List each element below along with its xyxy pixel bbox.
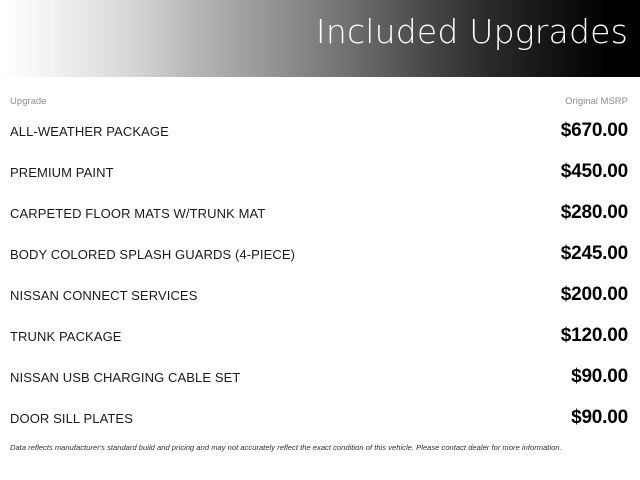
upgrade-price: $245.00 [561, 243, 628, 265]
page-title: Included Upgrades [316, 14, 628, 50]
table-row: NISSAN USB CHARGING CABLE SET $90.00 [0, 370, 640, 411]
header-banner: Included Upgrades [0, 0, 640, 77]
upgrade-name: NISSAN CONNECT SERVICES [10, 288, 197, 304]
upgrade-price: $120.00 [561, 325, 628, 347]
upgrade-price: $90.00 [571, 407, 628, 429]
table-row: PREMIUM PAINT $450.00 [0, 165, 640, 206]
upgrade-price: $90.00 [571, 366, 628, 388]
upgrade-name: NISSAN USB CHARGING CABLE SET [10, 370, 240, 386]
upgrade-price: $450.00 [561, 161, 628, 183]
column-header-original-msrp: Original MSRP [565, 96, 628, 107]
table-row: BODY COLORED SPLASH GUARDS (4-PIECE) $24… [0, 247, 640, 288]
upgrade-name: BODY COLORED SPLASH GUARDS (4-PIECE) [10, 247, 295, 263]
upgrade-price: $200.00 [561, 284, 628, 306]
upgrade-name: ALL-WEATHER PACKAGE [10, 124, 169, 140]
column-header-upgrade: Upgrade [10, 96, 46, 107]
disclaimer-text: Data reflects manufacturer's standard bu… [10, 443, 630, 453]
upgrades-table-body: ALL-WEATHER PACKAGE $670.00 PREMIUM PAIN… [0, 124, 640, 452]
upgrade-name: PREMIUM PAINT [10, 165, 114, 181]
upgrade-name: CARPETED FLOOR MATS W/TRUNK MAT [10, 206, 265, 222]
upgrade-name: DOOR SILL PLATES [10, 411, 133, 427]
table-row: NISSAN CONNECT SERVICES $200.00 [0, 288, 640, 329]
upgrade-price: $280.00 [561, 202, 628, 224]
table-row: ALL-WEATHER PACKAGE $670.00 [0, 124, 640, 165]
upgrade-price: $670.00 [561, 120, 628, 142]
upgrade-name: TRUNK PACKAGE [10, 329, 122, 345]
table-row: TRUNK PACKAGE $120.00 [0, 329, 640, 370]
included-upgrades-page: Included Upgrades Upgrade Original MSRP … [0, 0, 640, 480]
table-row: CARPETED FLOOR MATS W/TRUNK MAT $280.00 [0, 206, 640, 247]
table-column-headers: Upgrade Original MSRP [0, 96, 640, 112]
